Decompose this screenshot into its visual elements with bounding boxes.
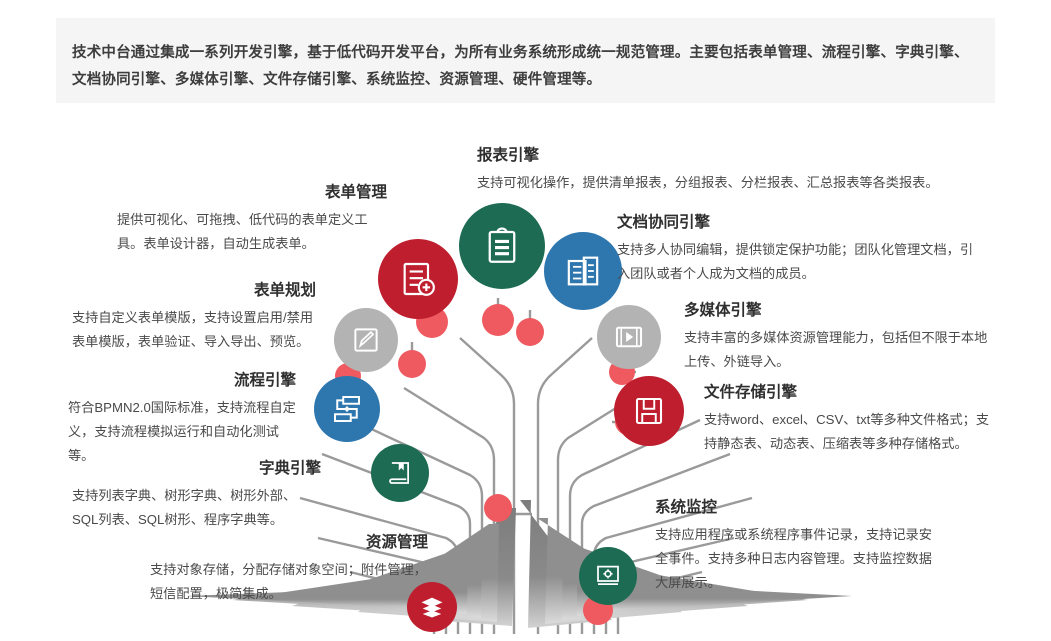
text-system-monitor: 系统监控 支持应用程序或系统程序事件记录，支持记录安全事件。支持多种日志内容管理… — [655, 497, 943, 595]
desc-dictionary-engine: 支持列表字典、树形字典、树形外部、SQL列表、SQL树形、程序字典等。 — [46, 484, 321, 532]
title-document-collab-engine: 文档协同引擎 — [617, 212, 979, 234]
desc-report-engine: 支持可视化操作，提供清单报表，分组报表、分栏报表、汇总报表等各类报表。 — [477, 171, 1007, 195]
desc-document-collab-engine: 支持多人协同编辑，提供锁定保护功能；团队化管理文档，引入团队或者个人成为文档的成… — [617, 238, 979, 286]
title-form-planning: 表单规划 — [58, 280, 316, 302]
desc-form-planning: 支持自定义表单模版，支持设置启用/禁用表单模版，表单验证、导入导出、预览。 — [58, 306, 316, 354]
title-file-storage-engine: 文件存储引擎 — [704, 382, 992, 404]
title-process-engine: 流程引擎 — [58, 370, 296, 392]
text-file-storage-engine: 文件存储引擎 支持word、excel、CSV、txt等多种文件格式；支持静态表… — [704, 382, 992, 456]
node-form-planning[interactable] — [334, 308, 398, 372]
text-process-engine: 流程引擎 符合BPMN2.0国际标准，支持流程自定义，支持流程模拟运行和自动化测… — [58, 370, 296, 468]
text-form-management: 表单管理 提供可视化、可拖拽、低代码的表单定义工具。表单设计器，自动生成表单。 — [84, 182, 387, 256]
title-dictionary-engine: 字典引擎 — [46, 458, 321, 480]
title-resource-management: 资源管理 — [136, 532, 428, 554]
book-icon — [385, 458, 415, 488]
title-report-engine: 报表引擎 — [477, 145, 1007, 167]
text-multimedia-engine: 多媒体引擎 支持丰富的多媒体资源管理能力，包括但不限于本地上传、外链导入。 — [684, 300, 994, 374]
text-report-engine: 报表引擎 支持可视化操作，提供清单报表，分组报表、分栏报表、汇总报表等各类报表。 — [477, 145, 1007, 195]
monitor-gear-icon — [593, 561, 623, 591]
desc-form-management: 提供可视化、可拖拽、低代码的表单定义工具。表单设计器，自动生成表单。 — [84, 208, 387, 256]
text-resource-management: 资源管理 支持对象存储，分配存储对象空间；附件管理，短信配置，极简集成。 — [136, 532, 428, 606]
node-document-collab-engine[interactable] — [544, 232, 622, 310]
node-file-storage-engine[interactable] — [614, 376, 684, 446]
floppy-save-icon — [631, 393, 667, 429]
clipboard-icon — [481, 225, 523, 267]
edit-board-icon — [349, 323, 383, 357]
node-multimedia-engine[interactable] — [597, 305, 661, 369]
intro-banner-text: 技术中台通过集成一系列开发引擎，基于低代码开发平台，为所有业务系统形成统一规范管… — [72, 40, 982, 94]
text-form-planning: 表单规划 支持自定义表单模版，支持设置启用/禁用表单模版，表单验证、导入导出、预… — [58, 280, 316, 354]
node-dictionary-engine[interactable] — [371, 444, 429, 502]
title-form-management: 表单管理 — [84, 182, 387, 204]
text-document-collab-engine: 文档协同引擎 支持多人协同编辑，提供锁定保护功能；团队化管理文档，引入团队或者个… — [617, 212, 979, 286]
documents-icon — [563, 251, 603, 291]
desc-file-storage-engine: 支持word、excel、CSV、txt等多种文件格式；支持静态表、动态表、压缩… — [704, 408, 992, 456]
title-multimedia-engine: 多媒体引擎 — [684, 300, 994, 322]
desc-resource-management: 支持对象存储，分配存储对象空间；附件管理，短信配置，极简集成。 — [136, 558, 428, 606]
desc-system-monitor: 支持应用程序或系统程序事件记录，支持记录安全事件。支持多种日志内容管理。支持监控… — [655, 523, 943, 595]
text-dictionary-engine: 字典引擎 支持列表字典、树形字典、树形外部、SQL列表、SQL树形、程序字典等。 — [46, 458, 321, 532]
intro-banner: 技术中台通过集成一系列开发引擎，基于低代码开发平台，为所有业务系统形成统一规范管… — [56, 18, 995, 103]
node-report-engine[interactable] — [459, 203, 545, 289]
node-form-management[interactable] — [378, 239, 458, 319]
flowchart-icon — [329, 391, 365, 427]
node-system-monitor[interactable] — [579, 547, 637, 605]
title-system-monitor: 系统监控 — [655, 497, 943, 519]
document-add-icon — [398, 259, 438, 299]
video-play-icon — [612, 320, 646, 354]
node-process-engine[interactable] — [314, 376, 380, 442]
desc-multimedia-engine: 支持丰富的多媒体资源管理能力，包括但不限于本地上传、外链导入。 — [684, 326, 994, 374]
